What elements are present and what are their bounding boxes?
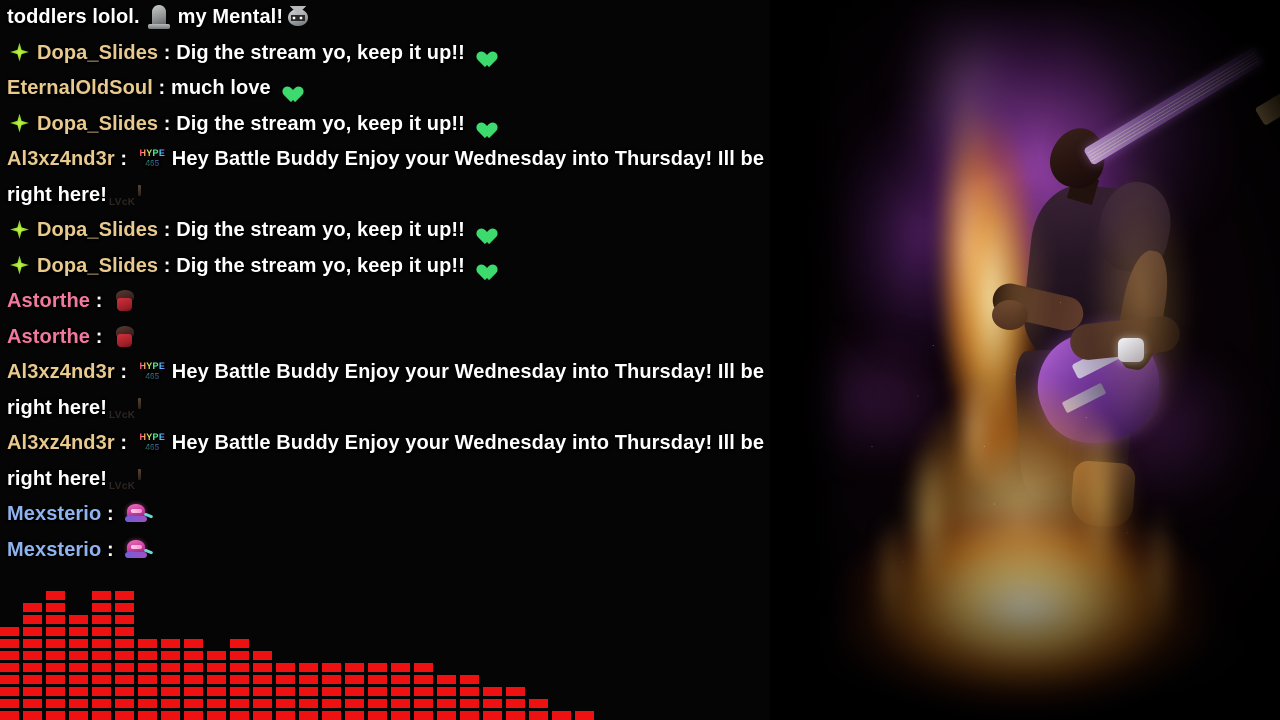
equalizer-segment bbox=[46, 675, 65, 684]
chat-name-separator: : bbox=[158, 255, 176, 277]
equalizer-segment bbox=[414, 675, 433, 684]
equalizer-segment bbox=[23, 675, 42, 684]
chat-message: EternalOldSoul : much love bbox=[0, 71, 770, 107]
equalizer-segment bbox=[483, 699, 502, 708]
chat-message-text: much love bbox=[171, 77, 271, 99]
equalizer-bar bbox=[483, 684, 502, 720]
chat-message-text: Dig the stream yo, keep it up!! bbox=[176, 219, 465, 241]
equalizer-segment bbox=[115, 711, 134, 720]
robot-antenna bbox=[144, 512, 153, 518]
equalizer-bar bbox=[0, 624, 19, 720]
chat-name-separator: : bbox=[115, 432, 133, 454]
equalizer-segment bbox=[46, 687, 65, 696]
astorthe-heart-hug-emote bbox=[113, 290, 137, 313]
equalizer-segment bbox=[46, 651, 65, 660]
equalizer-segment bbox=[69, 687, 88, 696]
equalizer-segment bbox=[207, 651, 226, 660]
equalizer-segment bbox=[92, 711, 111, 720]
equalizer-segment bbox=[322, 711, 341, 720]
equalizer-segment bbox=[23, 639, 42, 648]
equalizer-segment bbox=[161, 651, 180, 660]
equalizer-segment bbox=[138, 639, 157, 648]
equalizer-segment bbox=[368, 675, 387, 684]
equalizer-segment bbox=[69, 711, 88, 720]
equalizer-segment bbox=[276, 675, 295, 684]
equalizer-segment bbox=[23, 699, 42, 708]
equalizer-segment bbox=[207, 687, 226, 696]
chat-username[interactable]: EternalOldSoul bbox=[7, 77, 153, 99]
equalizer-segment bbox=[345, 711, 364, 720]
cat-face-emote bbox=[286, 6, 310, 28]
equalizer-segment bbox=[230, 663, 249, 672]
equalizer-bar bbox=[368, 660, 387, 720]
equalizer-segment bbox=[0, 627, 19, 636]
equalizer-bar bbox=[207, 648, 226, 720]
chat-username[interactable]: Mexsterio bbox=[7, 503, 101, 525]
equalizer-segment bbox=[115, 687, 134, 696]
chat-username[interactable]: Mexsterio bbox=[7, 539, 101, 561]
equalizer-segment bbox=[322, 675, 341, 684]
hype-emote: HYPE465 bbox=[139, 147, 166, 171]
equalizer-segment bbox=[276, 663, 295, 672]
equalizer-segment bbox=[0, 699, 19, 708]
equalizer-segment bbox=[368, 711, 387, 720]
chat-message: Dopa_Slides : Dig the stream yo, keep it… bbox=[0, 107, 770, 143]
artwork-left-fade bbox=[770, 0, 850, 720]
chat-name-separator: : bbox=[115, 148, 133, 170]
lvck-emote: LVcK bbox=[109, 185, 143, 205]
equalizer-segment bbox=[299, 663, 318, 672]
equalizer-bar bbox=[230, 636, 249, 720]
equalizer-segment bbox=[414, 699, 433, 708]
equalizer-bar bbox=[437, 672, 456, 720]
equalizer-segment bbox=[115, 603, 134, 612]
equalizer-segment bbox=[368, 699, 387, 708]
equalizer-segment bbox=[0, 663, 19, 672]
robot-visor bbox=[131, 509, 142, 513]
equalizer-segment bbox=[46, 639, 65, 648]
equalizer-segment bbox=[184, 675, 203, 684]
equalizer-segment bbox=[46, 699, 65, 708]
equalizer-segment bbox=[345, 687, 364, 696]
equalizer-segment bbox=[92, 615, 111, 624]
chat-username[interactable]: Astorthe bbox=[7, 326, 90, 348]
chat-username[interactable]: Dopa_Slides bbox=[37, 255, 158, 277]
equalizer-segment bbox=[184, 663, 203, 672]
equalizer-bar bbox=[23, 600, 42, 720]
equalizer-segment bbox=[276, 699, 295, 708]
equalizer-segment bbox=[92, 651, 111, 660]
equalizer-segment bbox=[115, 651, 134, 660]
chat-name-separator: : bbox=[158, 113, 176, 135]
chat-message: Mexsterio : bbox=[0, 533, 770, 569]
equalizer-segment bbox=[115, 639, 134, 648]
equalizer-bar bbox=[529, 696, 548, 720]
equalizer-segment bbox=[23, 711, 42, 720]
chat-message: Mexsterio : bbox=[0, 497, 770, 533]
equalizer-segment bbox=[506, 711, 525, 720]
equalizer-segment bbox=[207, 663, 226, 672]
chat-message-text: Dig the stream yo, keep it up!! bbox=[176, 42, 465, 64]
equalizer-segment bbox=[391, 663, 410, 672]
chat-message: toddlers lolol.my Mental! bbox=[0, 0, 770, 36]
equalizer-segment bbox=[115, 675, 134, 684]
equalizer-segment bbox=[115, 591, 134, 600]
equalizer-segment bbox=[207, 675, 226, 684]
equalizer-segment bbox=[92, 603, 111, 612]
equalizer-bar bbox=[276, 660, 295, 720]
chat-name-separator: : bbox=[158, 219, 176, 241]
robot-visor bbox=[131, 545, 142, 549]
equalizer-segment bbox=[23, 603, 42, 612]
equalizer-segment bbox=[46, 627, 65, 636]
equalizer-segment bbox=[138, 687, 157, 696]
equalizer-segment bbox=[115, 615, 134, 624]
robot-antenna bbox=[144, 548, 153, 554]
mexsterio-robot-emote bbox=[124, 503, 150, 526]
equalizer-segment bbox=[69, 663, 88, 672]
equalizer-segment bbox=[460, 699, 479, 708]
equalizer-segment bbox=[460, 711, 479, 720]
equalizer-segment bbox=[230, 687, 249, 696]
hype-emote-bottom-text: 465 bbox=[139, 442, 166, 453]
equalizer-segment bbox=[161, 711, 180, 720]
equalizer-segment bbox=[184, 651, 203, 660]
chat-message: Al3xz4nd3r : HYPE465Hey Battle Buddy Enj… bbox=[0, 355, 770, 426]
equalizer-segment bbox=[69, 639, 88, 648]
equalizer-segment bbox=[92, 627, 111, 636]
equalizer-segment bbox=[391, 687, 410, 696]
equalizer-segment bbox=[92, 639, 111, 648]
green-heart-emote bbox=[472, 220, 492, 239]
green-heart-emote bbox=[472, 114, 492, 133]
equalizer-segment bbox=[345, 675, 364, 684]
equalizer-segment bbox=[0, 651, 19, 660]
equalizer-segment bbox=[299, 687, 318, 696]
green-heart-emote bbox=[278, 78, 298, 97]
equalizer-segment bbox=[69, 627, 88, 636]
green-heart-emote bbox=[472, 43, 492, 62]
green-heart-emote bbox=[472, 256, 492, 275]
lvck-emote: LVcK bbox=[109, 469, 143, 489]
equalizer-bar bbox=[552, 708, 571, 720]
lvck-emote: LVcK bbox=[109, 398, 143, 418]
chat-message: Dopa_Slides : Dig the stream yo, keep it… bbox=[0, 213, 770, 249]
chat-message-text: Dig the stream yo, keep it up!! bbox=[176, 255, 465, 277]
chat-name-separator: : bbox=[101, 539, 119, 561]
hype-emote: HYPE465 bbox=[139, 431, 166, 455]
equalizer-segment bbox=[92, 591, 111, 600]
green-sparkle-badge bbox=[10, 43, 29, 62]
headstone-emote bbox=[146, 4, 172, 29]
equalizer-segment bbox=[253, 699, 272, 708]
equalizer-segment bbox=[161, 675, 180, 684]
equalizer-segment bbox=[460, 675, 479, 684]
equalizer-segment bbox=[46, 591, 65, 600]
equalizer-segment bbox=[69, 651, 88, 660]
equalizer-bar bbox=[69, 612, 88, 720]
equalizer-segment bbox=[575, 711, 594, 720]
equalizer-bar bbox=[161, 636, 180, 720]
chat-name-separator: : bbox=[90, 290, 108, 312]
equalizer-segment bbox=[253, 675, 272, 684]
equalizer-segment bbox=[345, 663, 364, 672]
hype-emote-bottom-text: 465 bbox=[139, 158, 166, 169]
hype-emote: HYPE465 bbox=[139, 360, 166, 384]
equalizer-segment bbox=[69, 675, 88, 684]
chat-message: Dopa_Slides : Dig the stream yo, keep it… bbox=[0, 249, 770, 285]
equalizer-segment bbox=[46, 603, 65, 612]
equalizer-segment bbox=[230, 639, 249, 648]
equalizer-bar bbox=[299, 660, 318, 720]
equalizer-segment bbox=[115, 699, 134, 708]
equalizer-segment bbox=[0, 639, 19, 648]
equalizer-segment bbox=[184, 639, 203, 648]
equalizer-bar bbox=[184, 636, 203, 720]
chat-username[interactable]: Al3xz4nd3r bbox=[7, 361, 115, 383]
equalizer-segment bbox=[299, 711, 318, 720]
chat-message: Astorthe : bbox=[0, 320, 770, 356]
equalizer-segment bbox=[161, 639, 180, 648]
equalizer-segment bbox=[23, 627, 42, 636]
equalizer-bar bbox=[345, 660, 364, 720]
chat-message-text: toddlers lolol. bbox=[7, 6, 140, 28]
equalizer-segment bbox=[437, 699, 456, 708]
chat-message: Al3xz4nd3r : HYPE465Hey Battle Buddy Enj… bbox=[0, 142, 770, 213]
chat-name-separator: : bbox=[115, 361, 133, 383]
equalizer-segment bbox=[207, 711, 226, 720]
equalizer-bar bbox=[46, 588, 65, 720]
equalizer-segment bbox=[391, 699, 410, 708]
equalizer-segment bbox=[23, 615, 42, 624]
stream-overlay-stage: toddlers lolol.my Mental!Dopa_Slides : D… bbox=[0, 0, 1280, 720]
equalizer-segment bbox=[161, 687, 180, 696]
equalizer-bar bbox=[115, 588, 134, 720]
equalizer-segment bbox=[23, 687, 42, 696]
chat-name-separator: : bbox=[158, 42, 176, 64]
equalizer-segment bbox=[207, 699, 226, 708]
equalizer-segment bbox=[161, 663, 180, 672]
equalizer-segment bbox=[115, 663, 134, 672]
equalizer-segment bbox=[69, 615, 88, 624]
equalizer-segment bbox=[437, 711, 456, 720]
equalizer-segment bbox=[460, 687, 479, 696]
equalizer-segment bbox=[92, 663, 111, 672]
hype-emote-bottom-text: 465 bbox=[139, 371, 166, 382]
chat-name-separator: : bbox=[90, 326, 108, 348]
equalizer-segment bbox=[368, 687, 387, 696]
equalizer-segment bbox=[46, 663, 65, 672]
equalizer-segment bbox=[529, 711, 548, 720]
equalizer-segment bbox=[276, 711, 295, 720]
equalizer-segment bbox=[322, 699, 341, 708]
equalizer-segment bbox=[322, 687, 341, 696]
equalizer-segment bbox=[46, 615, 65, 624]
equalizer-segment bbox=[529, 699, 548, 708]
equalizer-segment bbox=[0, 687, 19, 696]
mexsterio-robot-emote bbox=[124, 539, 150, 562]
equalizer-bar bbox=[414, 660, 433, 720]
equalizer-segment bbox=[253, 687, 272, 696]
equalizer-segment bbox=[115, 627, 134, 636]
equalizer-bar bbox=[391, 660, 410, 720]
chat-username[interactable]: Al3xz4nd3r bbox=[7, 432, 115, 454]
equalizer-segment bbox=[161, 699, 180, 708]
green-sparkle-badge bbox=[10, 220, 29, 239]
equalizer-segment bbox=[92, 687, 111, 696]
equalizer-segment bbox=[299, 675, 318, 684]
chat-name-separator: : bbox=[153, 77, 171, 99]
equalizer-segment bbox=[345, 699, 364, 708]
audio-spectrum-visualizer bbox=[0, 585, 598, 720]
equalizer-bar bbox=[506, 684, 525, 720]
chat-name-separator: : bbox=[101, 503, 119, 525]
equalizer-segment bbox=[184, 687, 203, 696]
equalizer-segment bbox=[437, 675, 456, 684]
equalizer-segment bbox=[138, 675, 157, 684]
equalizer-segment bbox=[92, 675, 111, 684]
equalizer-segment bbox=[92, 699, 111, 708]
equalizer-bar bbox=[92, 588, 111, 720]
chat-message: Dopa_Slides : Dig the stream yo, keep it… bbox=[0, 36, 770, 72]
chat-username[interactable]: Dopa_Slides bbox=[37, 219, 158, 241]
equalizer-segment bbox=[23, 651, 42, 660]
equalizer-segment bbox=[230, 675, 249, 684]
equalizer-segment bbox=[138, 651, 157, 660]
equalizer-segment bbox=[552, 711, 571, 720]
green-sparkle-badge bbox=[10, 256, 29, 275]
chat-message: Al3xz4nd3r : HYPE465Hey Battle Buddy Enj… bbox=[0, 426, 770, 497]
equalizer-segment bbox=[0, 711, 19, 720]
equalizer-segment bbox=[46, 711, 65, 720]
equalizer-bar bbox=[322, 660, 341, 720]
green-sparkle-badge bbox=[10, 114, 29, 133]
equalizer-segment bbox=[253, 651, 272, 660]
equalizer-segment bbox=[138, 711, 157, 720]
equalizer-segment bbox=[184, 711, 203, 720]
cat-eyes bbox=[291, 15, 305, 21]
equalizer-segment bbox=[69, 699, 88, 708]
equalizer-segment bbox=[299, 699, 318, 708]
equalizer-segment bbox=[230, 711, 249, 720]
equalizer-bar bbox=[575, 708, 594, 720]
chat-message-list: toddlers lolol.my Mental!Dopa_Slides : D… bbox=[0, 0, 770, 585]
equalizer-segment bbox=[322, 663, 341, 672]
equalizer-segment bbox=[437, 687, 456, 696]
chat-username[interactable]: Al3xz4nd3r bbox=[7, 148, 115, 170]
equalizer-segment bbox=[276, 687, 295, 696]
equalizer-segment bbox=[414, 711, 433, 720]
chat-message: Astorthe : bbox=[0, 284, 770, 320]
equalizer-segment bbox=[483, 711, 502, 720]
equalizer-segment bbox=[253, 711, 272, 720]
equalizer-bar bbox=[253, 648, 272, 720]
astorthe-heart-hug-emote bbox=[113, 326, 137, 349]
chat-username[interactable]: Dopa_Slides bbox=[37, 113, 158, 135]
equalizer-segment bbox=[230, 651, 249, 660]
chat-message-text: Dig the stream yo, keep it up!! bbox=[176, 113, 465, 135]
equalizer-segment bbox=[391, 675, 410, 684]
chat-username[interactable]: Dopa_Slides bbox=[37, 42, 158, 64]
equalizer-segment bbox=[0, 675, 19, 684]
equalizer-segment bbox=[414, 663, 433, 672]
equalizer-bar bbox=[460, 672, 479, 720]
equalizer-segment bbox=[230, 699, 249, 708]
equalizer-segment bbox=[506, 699, 525, 708]
equalizer-segment bbox=[138, 699, 157, 708]
equalizer-segment bbox=[368, 663, 387, 672]
equalizer-segment bbox=[391, 711, 410, 720]
equalizer-segment bbox=[253, 663, 272, 672]
equalizer-segment bbox=[414, 687, 433, 696]
equalizer-segment bbox=[483, 687, 502, 696]
chat-message-text: my Mental! bbox=[178, 6, 283, 28]
equalizer-bar bbox=[138, 636, 157, 720]
equalizer-segment bbox=[23, 663, 42, 672]
equalizer-segment bbox=[184, 699, 203, 708]
chat-username[interactable]: Astorthe bbox=[7, 290, 90, 312]
equalizer-segment bbox=[506, 687, 525, 696]
equalizer-segment bbox=[138, 663, 157, 672]
